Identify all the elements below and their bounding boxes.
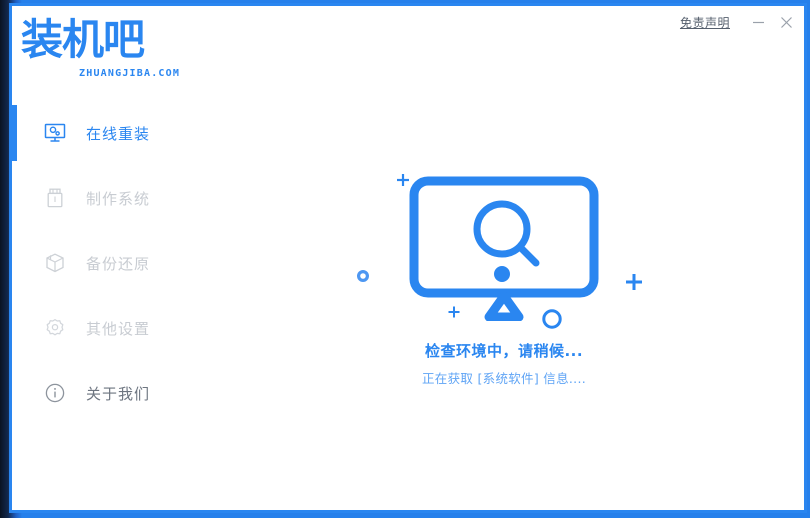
info-circle-icon [42, 380, 68, 406]
monitor-search-icon [408, 176, 600, 321]
ring-small-icon [356, 269, 370, 283]
close-icon [780, 16, 793, 29]
sidebar-item-label: 制作系统 [86, 188, 150, 209]
sidebar-item-backup-restore[interactable]: 备份还原 [12, 235, 204, 291]
minimize-button[interactable] [744, 10, 772, 34]
status-primary-text: 检查环境中，请稍候... [204, 340, 804, 361]
minimize-icon [752, 16, 765, 29]
sidebar-item-label: 备份还原 [86, 253, 150, 274]
backup-box-icon [42, 250, 68, 276]
active-indicator-bar [12, 365, 17, 421]
sidebar-item-label: 其他设置 [86, 318, 150, 339]
sidebar-item-label: 关于我们 [86, 383, 150, 404]
sidebar-item-about-us[interactable]: 关于我们 [12, 365, 204, 421]
status-secondary-text: 正在获取 [系统软件] 信息.... [204, 368, 804, 387]
application-window: 装机吧 ZHUANGJIBA.COM 免责声明 [0, 0, 810, 518]
active-indicator-bar [12, 235, 17, 291]
sidebar-item-make-system[interactable]: 制作系统 [12, 170, 204, 226]
title-bar: 装机吧 ZHUANGJIBA.COM 免责声明 [12, 6, 804, 100]
sidebar-item-online-reinstall[interactable]: 在线重装 [12, 105, 204, 161]
window-client-area: 装机吧 ZHUANGJIBA.COM 免责声明 [12, 6, 804, 510]
logo-wordmark: 装机吧 [21, 16, 144, 64]
active-indicator-bar [12, 105, 17, 161]
gear-icon [42, 315, 68, 341]
sidebar-item-label: 在线重装 [86, 123, 150, 144]
plus-mark-icon [624, 272, 644, 292]
active-indicator-bar [12, 170, 17, 226]
main-content-area: 检查环境中，请稍候... 正在获取 [系统软件] 信息.... [204, 100, 804, 510]
sidebar-navigation: 在线重装 制作系统 [12, 100, 204, 510]
sidebar-item-other-settings[interactable]: 其他设置 [12, 300, 204, 356]
app-logo: 装机吧 ZHUANGJIBA.COM [21, 16, 201, 88]
monitor-reinstall-icon [42, 120, 68, 146]
logo-domain: ZHUANGJIBA.COM [79, 68, 180, 79]
disclaimer-link[interactable]: 免责声明 [680, 14, 730, 31]
usb-drive-icon [42, 185, 68, 211]
close-button[interactable] [772, 10, 800, 34]
window-controls: 免责声明 [680, 9, 800, 35]
active-indicator-bar [12, 300, 17, 356]
